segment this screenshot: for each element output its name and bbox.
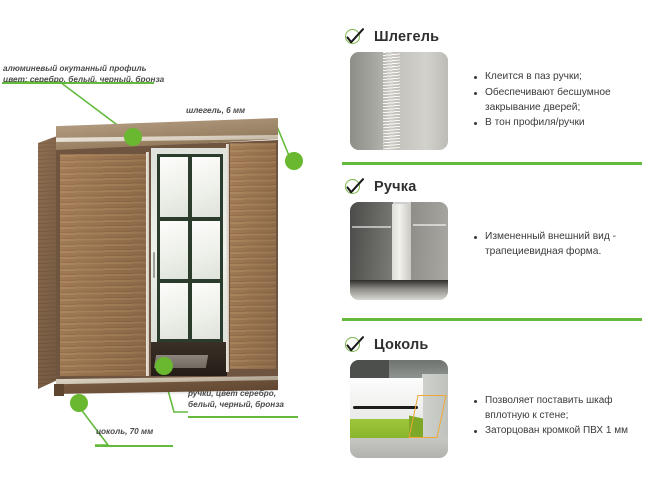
bullet-item: Измененный внешний вид - трапециевидная … — [474, 230, 652, 260]
bullet-item: Заторцован кромкой ПВХ 1 мм — [474, 424, 652, 439]
feature-title-tsokol: Цоколь — [374, 337, 429, 353]
feature-body-ruchka: Измененный внешний вид - трапециевидная … — [330, 202, 652, 300]
annotation-profile-underline — [2, 82, 154, 84]
features-panel: Шлегель Клеится в паз ручки; Обеспечиваю… — [330, 0, 652, 500]
thumb-part — [411, 202, 448, 282]
annotation-profile-line2: цвет: серебро, белый, черный, бронза — [3, 75, 164, 86]
marker-dot-handles — [155, 357, 173, 375]
thumb-floor — [350, 438, 448, 458]
wardrobe-door-left — [60, 154, 146, 376]
thumbnail-shlegel — [350, 52, 448, 150]
wardrobe-body — [56, 140, 278, 390]
mirror-pane — [192, 221, 220, 279]
feature-title-ruchka: Ручка — [374, 179, 416, 195]
feature-bullets-ruchka: Измененный внешний вид - трапециевидная … — [448, 202, 652, 300]
annotation-handles-underline — [188, 416, 298, 418]
annotation-tsokol-underline — [95, 445, 173, 447]
check-circle-icon — [344, 176, 366, 198]
mirror-pane — [192, 157, 220, 217]
feature-section-tsokol: Цоколь Позволяет поставить шкаф вплот — [330, 330, 652, 490]
wardrobe-foot — [54, 384, 64, 396]
bullet-item: Клеится в паз ручки; — [474, 70, 652, 85]
thumb-brush-strip — [383, 52, 400, 150]
thumb-line — [352, 226, 391, 228]
feature-header-ruchka: Ручка — [330, 172, 652, 202]
mirror-door-handle — [153, 252, 155, 278]
mirror-pane — [192, 283, 220, 339]
mirror-pane — [160, 283, 188, 339]
feature-section-ruchka: Ручка Измененный внешний вид - трапециев… — [330, 172, 652, 322]
feature-section-shlegel: Шлегель Клеится в паз ручки; Обеспечиваю… — [330, 22, 652, 162]
wardrobe-door-right — [230, 143, 276, 369]
check-circle-icon — [344, 26, 366, 48]
thumb-part — [399, 52, 448, 150]
feature-body-shlegel: Клеится в паз ручки; Обеспечивают бесшум… — [330, 52, 652, 150]
marker-dot-profile — [124, 128, 142, 146]
thumbnail-ruchka — [350, 202, 448, 300]
thumb-slot — [353, 406, 418, 409]
mirror-pane — [160, 221, 188, 279]
thumb-part — [350, 52, 385, 150]
annotation-profile-line1: алюминевый окутанный профиль — [3, 64, 164, 75]
mirror-pane — [160, 157, 188, 217]
door-edge-right — [226, 144, 229, 372]
mirror-reflection-frame — [157, 154, 223, 342]
wardrobe-door-mirror — [151, 148, 227, 376]
annotation-tsokol-line1: цоколь, 70 мм — [96, 427, 153, 438]
feature-body-tsokol: Позволяет поставить шкаф вплотную к стен… — [330, 360, 652, 458]
check-circle-icon — [344, 334, 366, 356]
annotation-shlegel: шлегель, 6 мм — [186, 106, 245, 117]
bullet-item: Позволяет поставить шкаф вплотную к стен… — [474, 394, 652, 423]
thumbnail-tsokol — [350, 360, 448, 458]
thumb-part — [350, 202, 393, 282]
feature-bullets-tsokol: Позволяет поставить шкаф вплотную к стен… — [448, 360, 652, 458]
feature-title-shlegel: Шлегель — [374, 29, 439, 45]
product-illustration-panel: алюминевый окутанный профиль цвет: сереб… — [0, 0, 330, 500]
door-edge-left — [146, 152, 149, 376]
thumb-handle-profile — [392, 204, 411, 290]
marker-dot-tsokol — [70, 394, 88, 412]
bullet-item: Обеспечивают бесшумное закрывание дверей… — [474, 86, 652, 116]
section-divider-1 — [342, 162, 642, 165]
section-divider-2 — [342, 318, 642, 321]
thumb-base — [350, 280, 448, 300]
thumb-cabinet — [350, 378, 423, 421]
thumb-line — [413, 224, 446, 226]
infographic-page: алюминевый окутанный профиль цвет: сереб… — [0, 0, 652, 500]
feature-header-shlegel: Шлегель — [330, 22, 652, 52]
annotation-tsokol: цоколь, 70 мм — [96, 427, 153, 438]
marker-dot-shlegel — [285, 152, 303, 170]
feature-bullets-shlegel: Клеится в паз ручки; Обеспечивают бесшум… — [448, 52, 652, 150]
feature-header-tsokol: Цоколь — [330, 330, 652, 360]
annotation-shlegel-line1: шлегель, 6 мм — [186, 106, 245, 117]
bullet-item: В тон профиля/ручки — [474, 116, 652, 131]
